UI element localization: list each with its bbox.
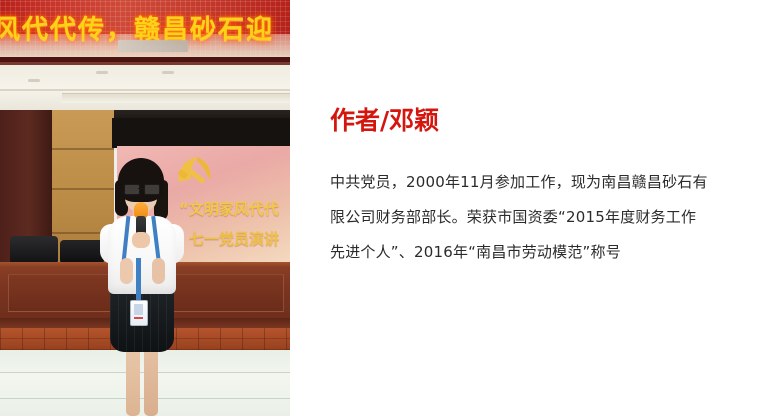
glasses-lens-right: [144, 184, 160, 195]
leg-right: [144, 348, 158, 416]
ceiling-light-2: [96, 71, 108, 74]
screen-headline-line2: 七一党员演讲: [189, 228, 279, 249]
arm-right: [152, 258, 165, 284]
screen-headline-line1: “文明家风代代: [179, 198, 279, 219]
leg-left: [126, 348, 140, 416]
id-badge: [130, 300, 148, 326]
led-banner: 风代代传，赣昌砂石迎: [0, 0, 290, 57]
bio-line-3: 先进个人”、2016年“南昌市劳动模范”称号: [330, 235, 740, 270]
hair-top: [118, 158, 164, 202]
speaker-photo: 风代代传，赣昌砂石迎 “文明家风代代 七一党员演讲: [0, 0, 290, 416]
bio-line-2: 限公司财务部部长。荣获市国资委“2015年度财务工作: [330, 200, 740, 235]
glasses-lens-left: [124, 184, 140, 195]
female-speaker: [96, 158, 188, 416]
id-badge-stripe: [134, 317, 143, 319]
id-badge-photo: [134, 304, 143, 315]
office-chair-1: [10, 236, 58, 262]
lanyard-strap-center: [136, 258, 141, 302]
glasses-icon: [124, 184, 158, 193]
ceiling-light-3: [162, 71, 174, 74]
arm-left: [120, 258, 133, 284]
author-biography: 中共党员，2000年11月参加工作，现为南昌赣昌砂石有 限公司财务部部长。荣获市…: [330, 165, 740, 270]
author-title: 作者/邓颖: [330, 108, 439, 133]
article-author-card: 风代代传，赣昌砂石迎 “文明家风代代 七一党员演讲: [0, 0, 771, 416]
bio-line-1: 中共党员，2000年11月参加工作，现为南昌赣昌砂石有: [330, 165, 740, 200]
author-info-panel: 作者/邓颖 中共党员，2000年11月参加工作，现为南昌赣昌砂石有 限公司财务部…: [330, 0, 750, 416]
hand-holding-microphone: [132, 232, 150, 248]
led-sub-panel: [118, 40, 188, 52]
ceiling-seam-1: [0, 89, 290, 91]
wall-seam-1: [52, 148, 114, 150]
projection-screen-frame: [112, 118, 290, 148]
ceiling-step: [62, 93, 290, 103]
ceiling-light-1: [28, 79, 40, 82]
